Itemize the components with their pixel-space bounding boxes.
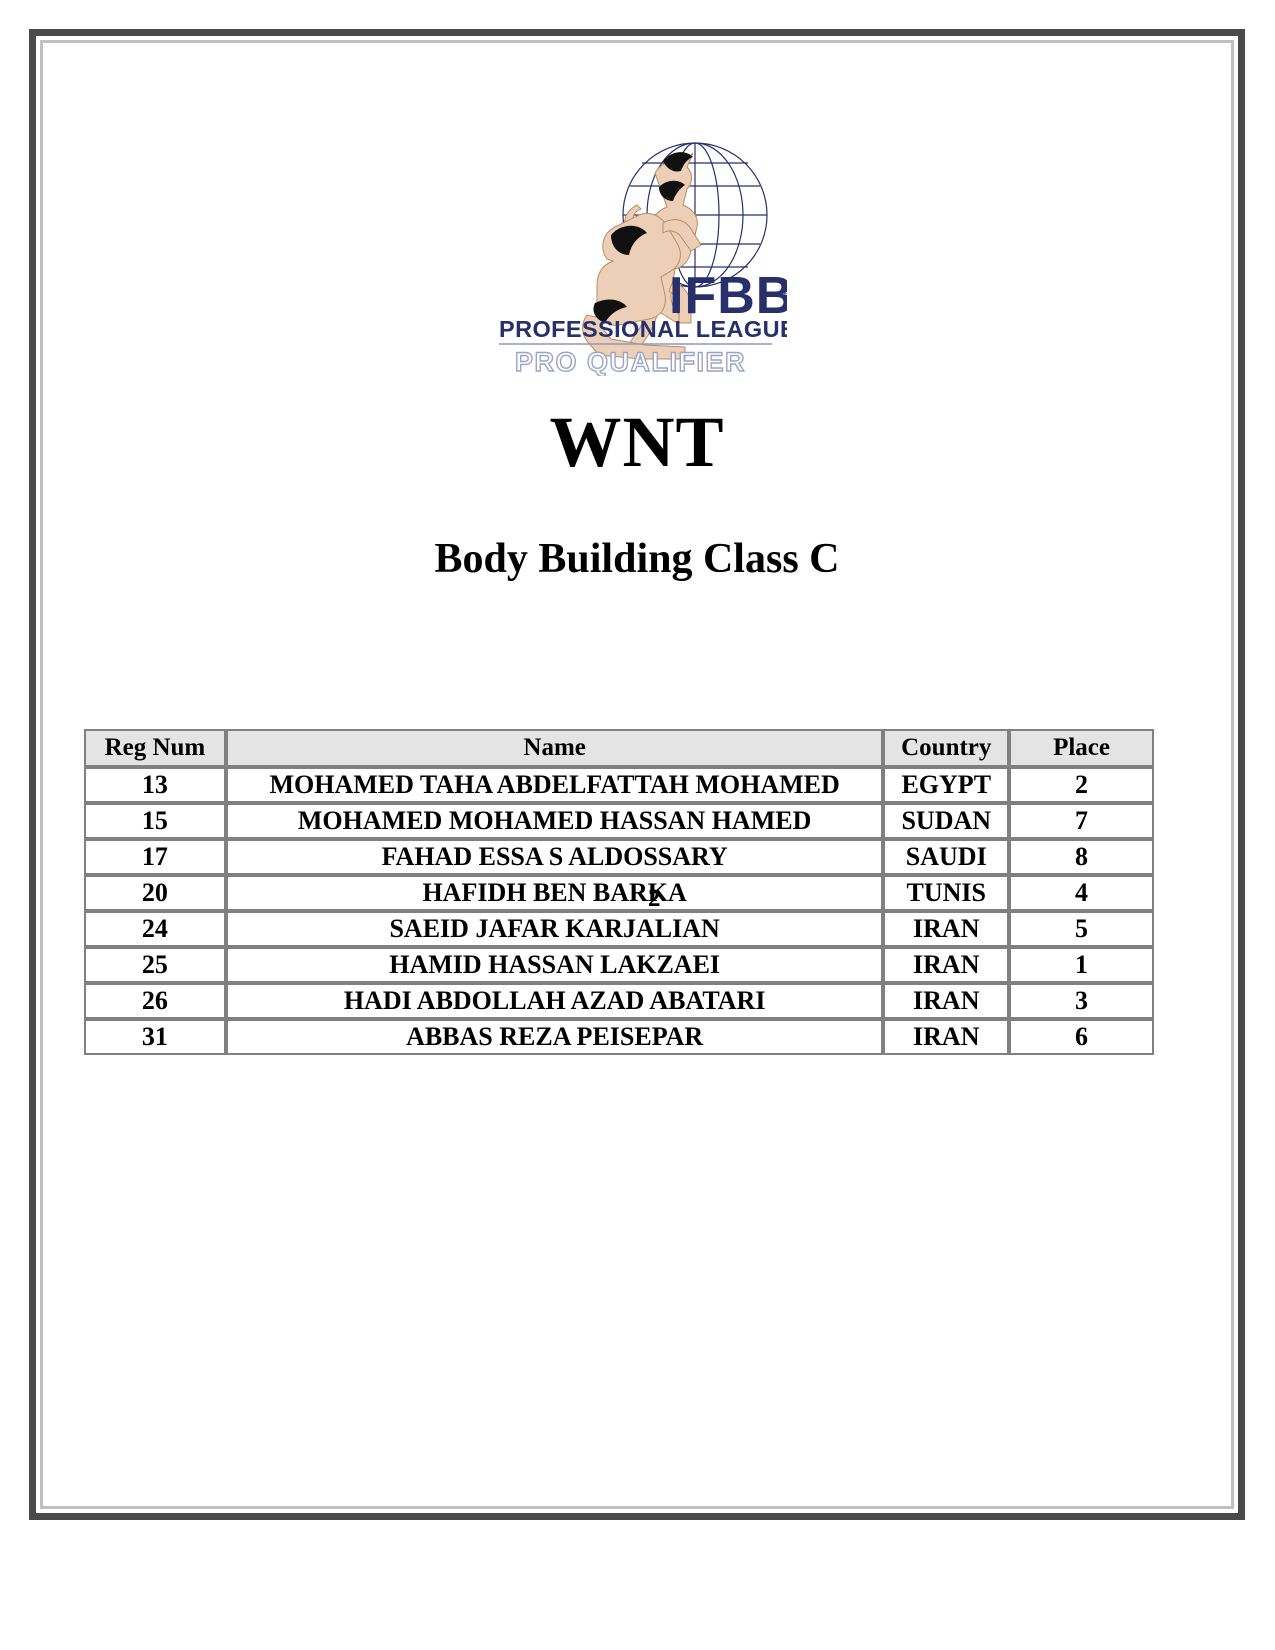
column-header-place: Place xyxy=(1009,729,1154,767)
cell-name: HADI ABDOLLAH AZAD ABATARI xyxy=(226,983,884,1019)
cell-reg-num: 26 xyxy=(84,983,226,1019)
cell-place: 2 xyxy=(1009,767,1154,803)
cell-name: MOHAMED MOHAMED HASSAN HAMED xyxy=(226,803,884,839)
cell-reg-num: 31 xyxy=(84,1019,226,1055)
table-row: 24 SAEID JAFAR KARJALIAN IRAN 5 xyxy=(84,911,1154,947)
cell-country: IRAN xyxy=(883,911,1009,947)
document-page-content: IFBB ® PROFESSIONAL LEAGUE PRO QUALIFIER… xyxy=(43,43,1231,1506)
cell-reg-num: 13 xyxy=(84,767,226,803)
column-header-country: Country xyxy=(883,729,1009,767)
cell-country: IRAN xyxy=(883,947,1009,983)
column-header-reg-num: Reg Num xyxy=(84,729,226,767)
cell-name: HAFIDH BEN BARKA xyxy=(226,875,884,911)
cell-name: FAHAD ESSA S ALDOSSARY xyxy=(226,839,884,875)
cell-place: 7 xyxy=(1009,803,1154,839)
column-header-name: Name xyxy=(226,729,884,767)
cell-country: IRAN xyxy=(883,1019,1009,1055)
cell-reg-num: 15 xyxy=(84,803,226,839)
logo-block: IFBB ® PROFESSIONAL LEAGUE PRO QUALIFIER xyxy=(43,131,1231,376)
document-page-frame: IFBB ® PROFESSIONAL LEAGUE PRO QUALIFIER… xyxy=(29,29,1245,1520)
cell-name: MOHAMED TAHA ABDELFATTAH MOHAMED xyxy=(226,767,884,803)
document-page-inner-border: IFBB ® PROFESSIONAL LEAGUE PRO QUALIFIER… xyxy=(40,40,1234,1509)
ifbb-logo-graphic: IFBB ® PROFESSIONAL LEAGUE PRO QUALIFIER xyxy=(487,131,787,376)
table-header-row: Reg Num Name Country Place xyxy=(84,729,1154,767)
table-row: 17 FAHAD ESSA S ALDOSSARY SAUDI 8 xyxy=(84,839,1154,875)
cell-place: 4 xyxy=(1009,875,1154,911)
cell-place: 6 xyxy=(1009,1019,1154,1055)
results-table-body: 13 MOHAMED TAHA ABDELFATTAH MOHAMED EGYP… xyxy=(84,767,1154,1055)
table-row: 31 ABBAS REZA PEISEPAR IRAN 6 xyxy=(84,1019,1154,1055)
cell-country: SUDAN xyxy=(883,803,1009,839)
cell-country: TUNIS xyxy=(883,875,1009,911)
cell-country: IRAN xyxy=(883,983,1009,1019)
cell-name: ABBAS REZA PEISEPAR xyxy=(226,1019,884,1055)
ifbb-logo: IFBB ® PROFESSIONAL LEAGUE PRO QUALIFIER xyxy=(487,131,787,376)
cell-name: SAEID JAFAR KARJALIAN xyxy=(226,911,884,947)
table-row: 26 HADI ABDOLLAH AZAD ABATARI IRAN 3 xyxy=(84,983,1154,1019)
table-row: 13 MOHAMED TAHA ABDELFATTAH MOHAMED EGYP… xyxy=(84,767,1154,803)
page-title: WNT xyxy=(43,406,1231,478)
cell-reg-num: 24 xyxy=(84,911,226,947)
cell-country: EGYPT xyxy=(883,767,1009,803)
logo-league-text: PROFESSIONAL LEAGUE xyxy=(499,316,787,342)
cell-place: 3 xyxy=(1009,983,1154,1019)
cell-name: HAMID HASSAN LAKZAEI xyxy=(226,947,884,983)
results-table-container: Reg Num Name Country Place 13 MOHAMED TA… xyxy=(84,729,1154,1055)
cell-reg-num: 25 xyxy=(84,947,226,983)
results-table-header: Reg Num Name Country Place xyxy=(84,729,1154,767)
table-row: 20 HAFIDH BEN BARKA TUNIS 4 xyxy=(84,875,1154,911)
results-table: Reg Num Name Country Place 13 MOHAMED TA… xyxy=(84,729,1154,1055)
cell-reg-num: 17 xyxy=(84,839,226,875)
table-row: 25 HAMID HASSAN LAKZAEI IRAN 1 xyxy=(84,947,1154,983)
page-subtitle: Body Building Class C xyxy=(43,538,1231,580)
cell-place: 5 xyxy=(1009,911,1154,947)
table-row: 15 MOHAMED MOHAMED HASSAN HAMED SUDAN 7 xyxy=(84,803,1154,839)
cell-place: 1 xyxy=(1009,947,1154,983)
cell-place: 8 xyxy=(1009,839,1154,875)
logo-qualifier-text: PRO QUALIFIER xyxy=(515,347,746,376)
cell-country: SAUDI xyxy=(883,839,1009,875)
logo-registered-mark: ® xyxy=(782,290,787,302)
cell-reg-num: 20 xyxy=(84,875,226,911)
